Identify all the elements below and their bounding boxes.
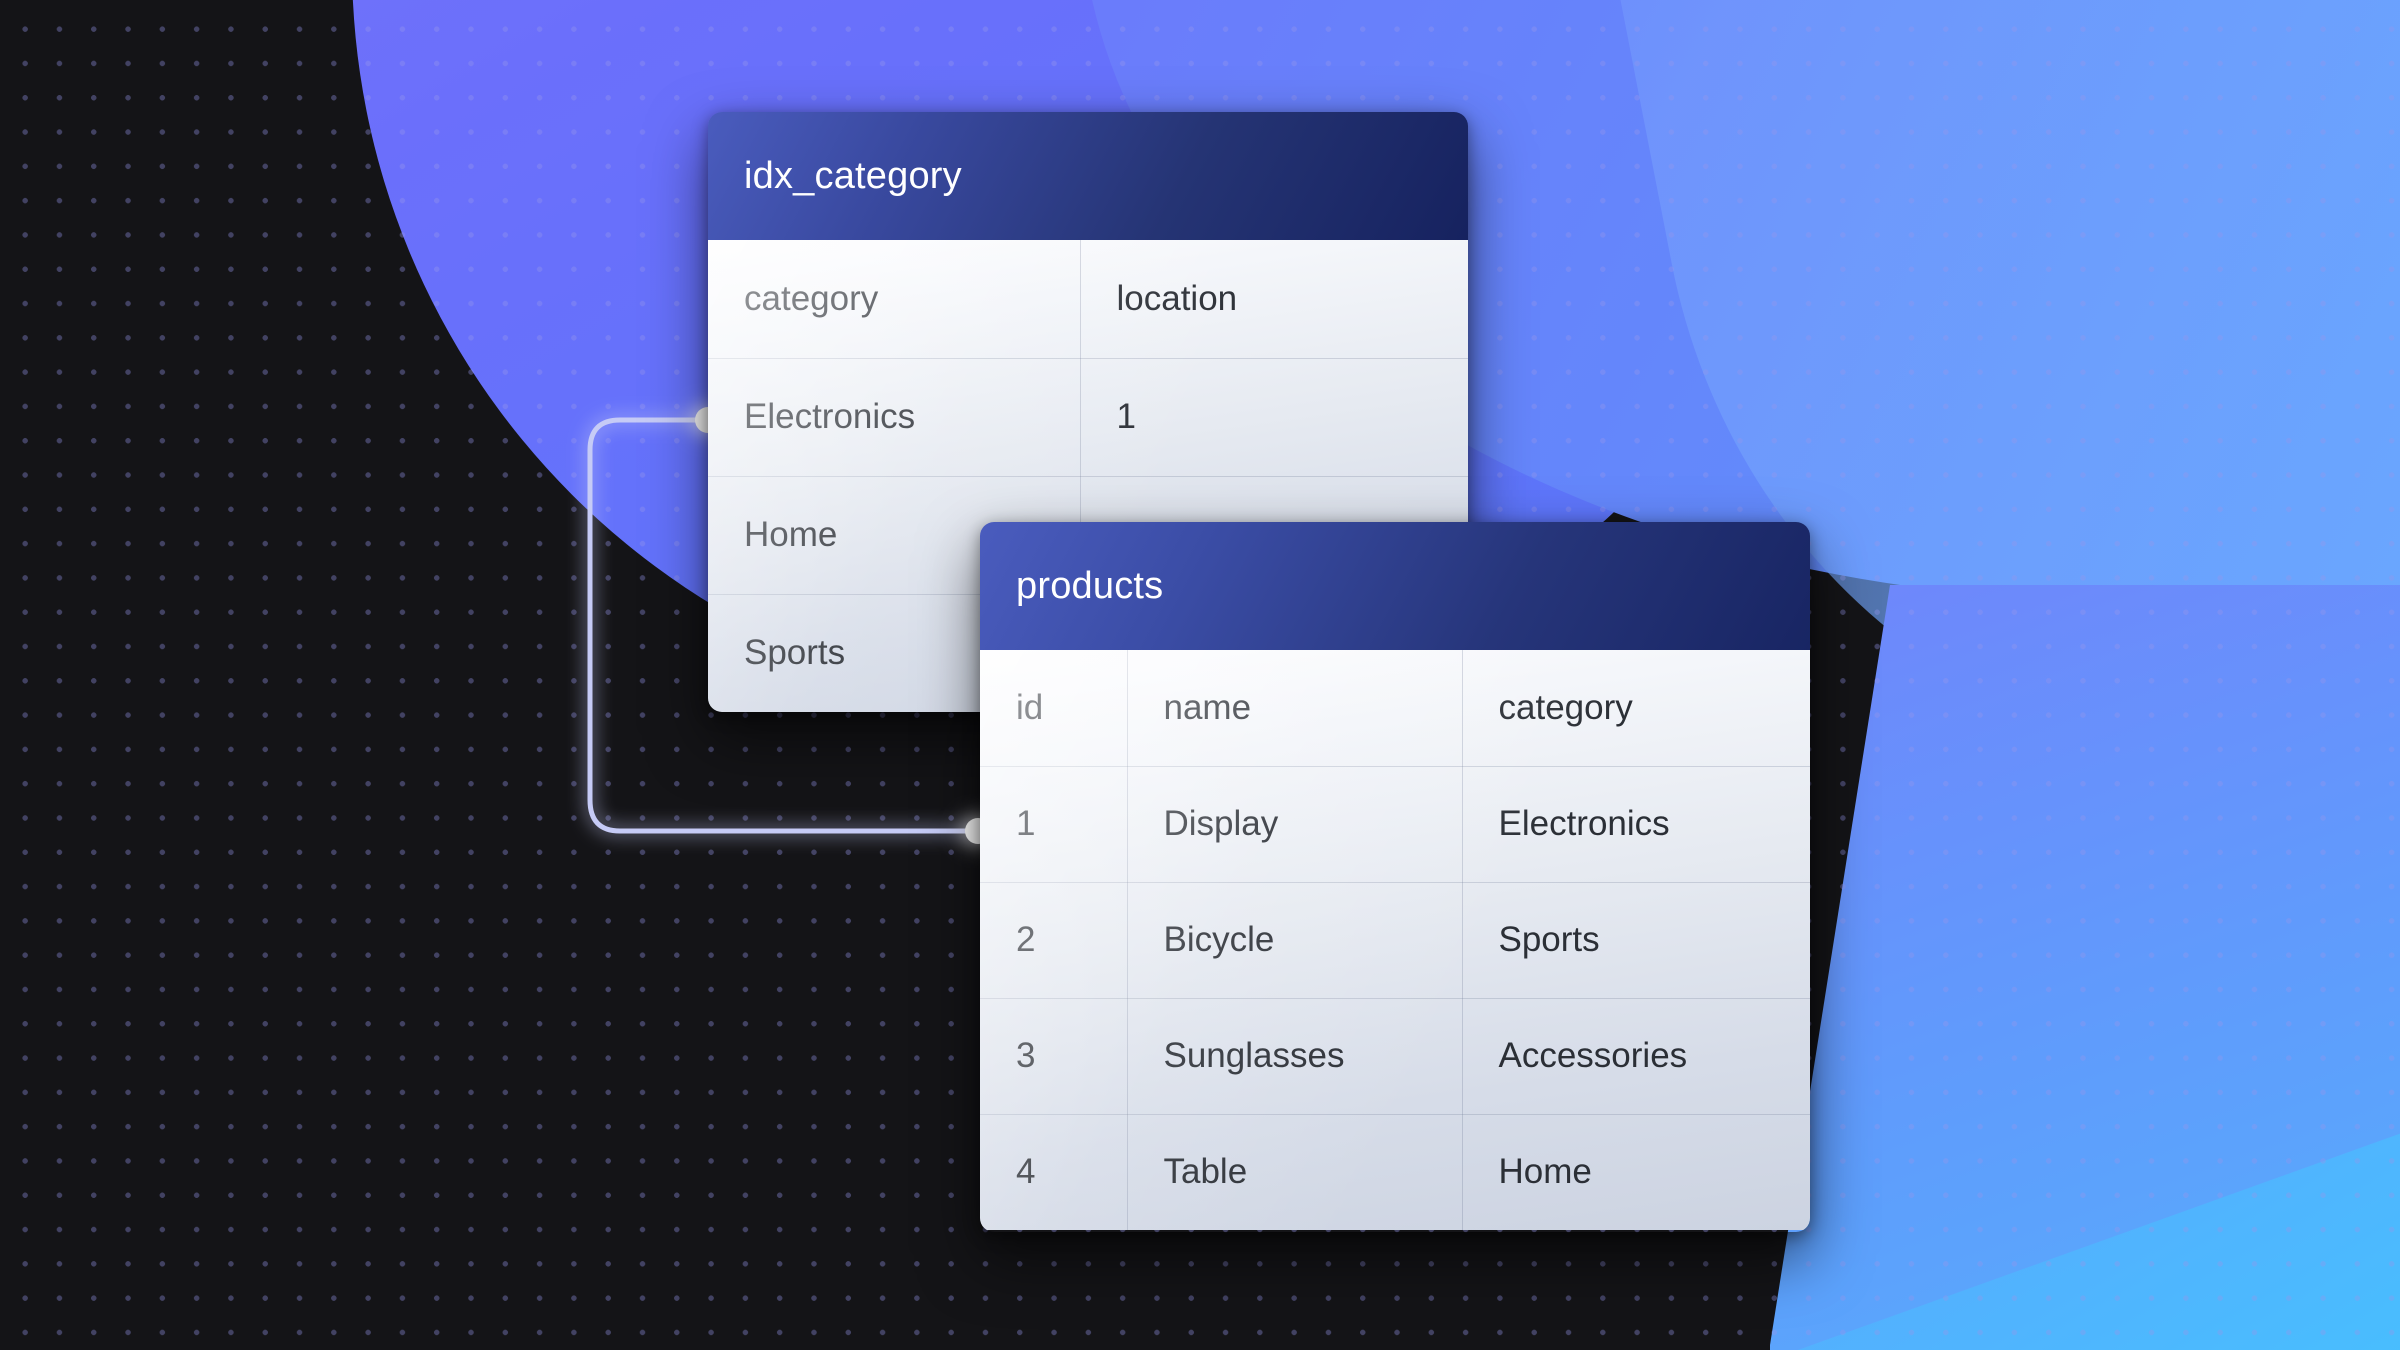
cell-id: 3 [980,998,1127,1114]
cell-category: Electronics [708,358,1080,476]
cell-category: Electronics [1462,766,1810,882]
card-title-products: products [980,522,1810,650]
cell-name: Table [1127,1114,1462,1230]
table-header-row: category location [708,240,1468,358]
products-table: id name category 1 Display Electronics 2… [980,650,1810,1230]
cell-name: Display [1127,766,1462,882]
card-title-idx-category: idx_category [708,112,1468,240]
cell-name: Sunglasses [1127,998,1462,1114]
column-header-id: id [980,650,1127,766]
table-row[interactable]: 1 Display Electronics [980,766,1810,882]
cell-id: 4 [980,1114,1127,1230]
cell-name: Bicycle [1127,882,1462,998]
column-header-category: category [708,240,1080,358]
table-header-row: id name category [980,650,1810,766]
column-header-name: name [1127,650,1462,766]
table-row[interactable]: 4 Table Home [980,1114,1810,1230]
cell-id: 1 [980,766,1127,882]
cell-id: 2 [980,882,1127,998]
table-row[interactable]: 2 Bicycle Sports [980,882,1810,998]
cell-category: Home [1462,1114,1810,1230]
column-header-location: location [1080,240,1468,358]
column-header-category: category [1462,650,1810,766]
diagram-canvas: idx_category category location Electroni… [0,0,2400,1350]
table-row[interactable]: Electronics 1 [708,358,1468,476]
card-body-products: id name category 1 Display Electronics 2… [980,650,1810,1230]
table-row[interactable]: 3 Sunglasses Accessories [980,998,1810,1114]
cell-category: Sports [1462,882,1810,998]
cell-category: Accessories [1462,998,1810,1114]
cell-location: 1 [1080,358,1468,476]
table-card-products[interactable]: products id name category 1 Display Elec… [980,522,1810,1232]
